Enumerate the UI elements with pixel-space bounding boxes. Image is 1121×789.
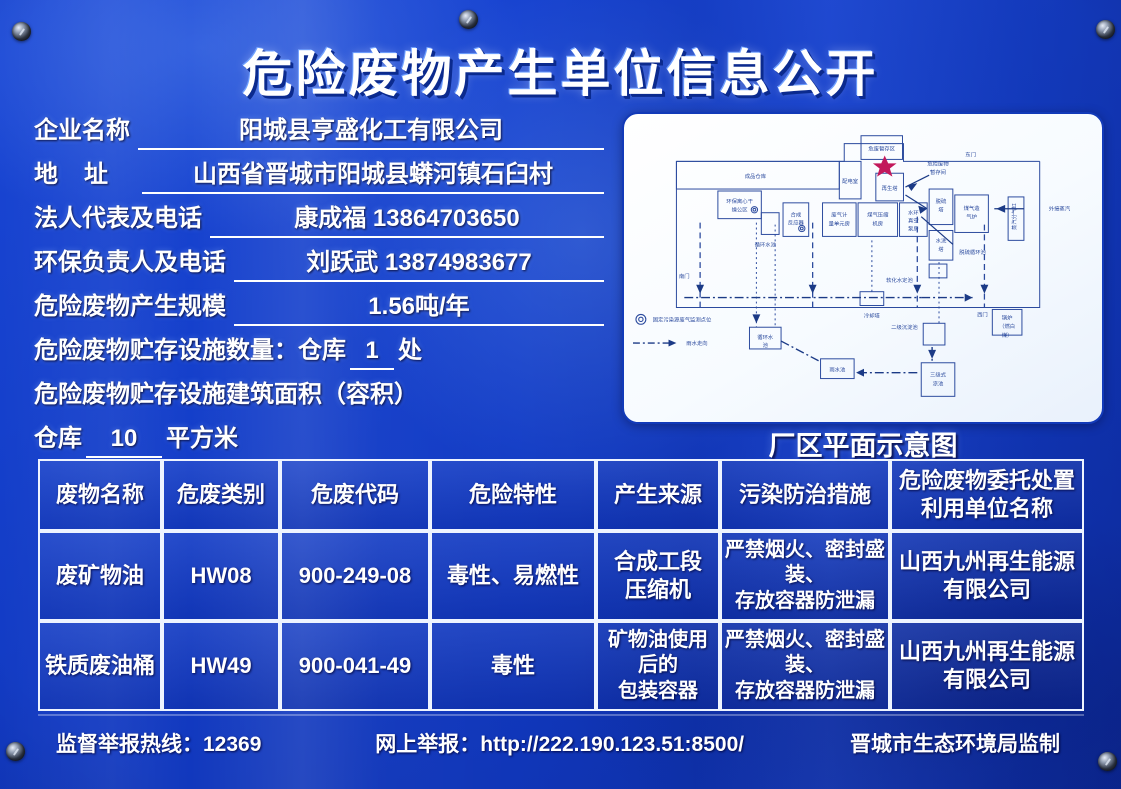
svg-text:固定污染源废气监测点位: 固定污染源废气监测点位 bbox=[653, 315, 712, 323]
table-header-control: 污染防治措施 bbox=[720, 459, 890, 531]
info-value-address: 山西省晋城市阳城县蟒河镇石臼村 bbox=[142, 154, 604, 194]
svg-text:煤气压缩: 煤气压缩 bbox=[867, 211, 889, 219]
svg-text:三级式: 三级式 bbox=[930, 371, 947, 379]
svg-text:真空: 真空 bbox=[908, 217, 919, 225]
info-row-env-officer: 环保负责人及电话 刘跃武 13874983677 bbox=[34, 242, 604, 286]
cell-hazard: 毒性 bbox=[430, 621, 596, 711]
legend-monitor-point-icon bbox=[636, 314, 646, 324]
mounting-screw-icon bbox=[6, 742, 25, 761]
cell-control-line1: 严禁烟火、密封盛装、 bbox=[725, 628, 885, 679]
company-info-block: 企业名称 阳城县亨盛化工有限公司 地址 山西省晋城市阳城县蟒河镇石臼村 法人代表… bbox=[34, 110, 604, 462]
site-plan-panel: 成品仓库 配电室 危废暂存区 再生塔 环保离心干 燥公区 合成 反应器 废气计 … bbox=[622, 112, 1104, 424]
svg-text:脱硫循环池: 脱硫循环池 bbox=[959, 248, 986, 256]
storage-area-value: 10 bbox=[86, 425, 162, 458]
svg-text:南门: 南门 bbox=[679, 272, 690, 280]
svg-text:凉池: 凉池 bbox=[933, 379, 944, 387]
info-value-company-name: 阳城县亨盛化工有限公司 bbox=[138, 110, 604, 150]
cell-entrust-line2: 有限公司 bbox=[895, 666, 1079, 694]
cell-waste-name: 废矿物油 bbox=[38, 531, 162, 621]
svg-text:再生塔: 再生塔 bbox=[882, 184, 899, 192]
footer-divider bbox=[38, 714, 1084, 716]
table-header-entrust-line1: 危险废物委托处置 bbox=[895, 467, 1079, 495]
cell-code: 900-041-49 bbox=[280, 621, 430, 711]
svg-text:量单元房: 量单元房 bbox=[829, 220, 850, 228]
cell-entrust-line1: 山西九州再生能源 bbox=[895, 548, 1079, 576]
svg-text:雨水走向: 雨水走向 bbox=[686, 339, 707, 347]
cell-control-line1: 严禁烟火、密封盛装、 bbox=[725, 538, 885, 589]
site-plan-svg: 成品仓库 配电室 危废暂存区 再生塔 环保离心干 燥公区 合成 反应器 废气计 … bbox=[624, 114, 1102, 422]
table-header-category: 危废类别 bbox=[162, 459, 280, 531]
table-header-hazard: 危险特性 bbox=[430, 459, 596, 531]
hazardous-waste-table: 废物名称 危废类别 危废代码 危险特性 产生来源 污染防治措施 危险废物委托处置… bbox=[38, 459, 1084, 711]
cell-category: HW08 bbox=[162, 531, 280, 621]
svg-text:循环水池: 循环水池 bbox=[755, 240, 777, 248]
svg-text:东门: 东门 bbox=[965, 150, 976, 158]
site-plan-caption: 厂区平面示意图 bbox=[622, 424, 1104, 463]
info-row-storage-area-value: 仓库 10 平方米 bbox=[34, 418, 604, 462]
cell-entrust: 山西九州再生能源 有限公司 bbox=[890, 531, 1084, 621]
svg-text:水洗: 水洗 bbox=[936, 236, 947, 244]
svg-text:暂存间: 暂存间 bbox=[930, 168, 946, 176]
cell-control: 严禁烟火、密封盛装、 存放容器防泄漏 bbox=[720, 531, 890, 621]
table-header-entrust: 危险废物委托处置 利用单位名称 bbox=[890, 459, 1084, 531]
info-row-storage-count: 危险废物贮存设施数量：仓库 1 处 bbox=[34, 330, 604, 374]
table-header-source: 产生来源 bbox=[596, 459, 720, 531]
svg-text:循环水: 循环水 bbox=[757, 333, 774, 341]
info-label-legal-rep: 法人代表及电话 bbox=[34, 198, 202, 233]
footer-hotline: 监督举报热线：12369 bbox=[56, 728, 261, 758]
table-header-code: 危废代码 bbox=[280, 459, 430, 531]
svg-text:塔: 塔 bbox=[938, 245, 944, 253]
svg-text:外接蒸汽: 外接蒸汽 bbox=[1049, 205, 1071, 213]
cell-source-line2: 包装容器 bbox=[601, 679, 715, 705]
info-label-address: 地址 bbox=[34, 154, 134, 189]
site-plan-drawing: 成品仓库 配电室 危废暂存区 再生塔 环保离心干 燥公区 合成 反应器 废气计 … bbox=[622, 112, 1104, 424]
svg-text:泵房: 泵房 bbox=[908, 224, 919, 232]
cell-entrust: 山西九州再生能源 有限公司 bbox=[890, 621, 1084, 711]
cell-code: 900-249-08 bbox=[280, 531, 430, 621]
svg-text:机房: 机房 bbox=[872, 220, 883, 228]
svg-text:水环: 水环 bbox=[908, 209, 919, 217]
cell-entrust-line1: 山西九州再生能源 bbox=[895, 638, 1079, 666]
footer-bar: 监督举报热线：12369 网上举报：http://222.190.123.51:… bbox=[38, 728, 1084, 758]
svg-text:成品仓库: 成品仓库 bbox=[745, 172, 767, 180]
cell-control: 严禁烟火、密封盛装、 存放容器防泄漏 bbox=[720, 621, 890, 711]
svg-text:环保离心干: 环保离心干 bbox=[726, 197, 753, 205]
svg-text:锅炉: 锅炉 bbox=[1002, 313, 1013, 321]
storage-count-unit: 处 bbox=[398, 330, 422, 365]
table-row: 废矿物油 HW08 900-249-08 毒性、易燃性 合成工段 压缩机 严禁烟… bbox=[38, 531, 1084, 621]
svg-text:煤气造: 煤气造 bbox=[964, 204, 981, 212]
footer-organization: 晋城市生态环境局监制 bbox=[850, 728, 1060, 758]
footer-web-report[interactable]: 网上举报：http://222.190.123.51:8500/ bbox=[375, 728, 744, 758]
cell-source: 合成工段 压缩机 bbox=[596, 531, 720, 621]
svg-text:塔: 塔 bbox=[938, 206, 944, 214]
info-row-storage-area-label: 危险废物贮存设施建筑面积（容积） bbox=[34, 374, 604, 418]
cell-source-line1: 矿物油使用后的 bbox=[601, 628, 715, 679]
cell-source: 矿物油使用后的 包装容器 bbox=[596, 621, 720, 711]
svg-text:气炉: 气炉 bbox=[966, 213, 977, 221]
info-label-env-officer: 环保负责人及电话 bbox=[34, 242, 226, 277]
svg-text:西门: 西门 bbox=[977, 310, 988, 318]
svg-text:软化水定池: 软化水定池 bbox=[886, 276, 913, 284]
info-label-waste-scale: 危险废物产生规模 bbox=[34, 286, 226, 321]
svg-text:危险废物: 危险废物 bbox=[927, 159, 949, 167]
info-value-legal-rep: 康成福 13864703650 bbox=[210, 198, 604, 238]
svg-text:蒸汽分气缸: 蒸汽分气缸 bbox=[1010, 203, 1018, 230]
storage-area-unit: 平方米 bbox=[166, 418, 238, 453]
cell-hazard: 毒性、易燃性 bbox=[430, 531, 596, 621]
page-title: 危险废物产生单位信息公开 bbox=[0, 34, 1121, 106]
storage-area-label: 危险废物贮存设施建筑面积（容积） bbox=[34, 374, 418, 409]
svg-text:废气计: 废气计 bbox=[831, 211, 848, 219]
storage-count-value: 1 bbox=[350, 337, 394, 370]
svg-text:（燃白: （燃白 bbox=[999, 322, 1015, 330]
mounting-screw-icon bbox=[1098, 752, 1117, 771]
svg-text:二级沉淀池: 二级沉淀池 bbox=[891, 323, 918, 331]
svg-text:冷却塔: 冷却塔 bbox=[864, 311, 881, 319]
svg-text:煤）: 煤） bbox=[1002, 331, 1013, 339]
storage-count-label: 危险废物贮存设施数量：仓库 bbox=[34, 330, 346, 365]
svg-text:配电室: 配电室 bbox=[842, 177, 859, 185]
cell-waste-name: 铁质废油桶 bbox=[38, 621, 162, 711]
info-value-env-officer: 刘跃武 13874983677 bbox=[234, 242, 604, 282]
table-header-entrust-line2: 利用单位名称 bbox=[895, 495, 1079, 523]
info-row-legal-rep: 法人代表及电话 康成福 13864703650 bbox=[34, 198, 604, 242]
svg-text:雨水池: 雨水池 bbox=[829, 366, 846, 374]
svg-text:燥公区: 燥公区 bbox=[732, 206, 749, 214]
table-row: 铁质废油桶 HW49 900-041-49 毒性 矿物油使用后的 包装容器 严禁… bbox=[38, 621, 1084, 711]
cell-source-line1: 合成工段 bbox=[601, 548, 715, 576]
info-row-company-name: 企业名称 阳城县亨盛化工有限公司 bbox=[34, 110, 604, 154]
cell-source-line2: 压缩机 bbox=[601, 576, 715, 604]
svg-text:合成: 合成 bbox=[791, 211, 802, 219]
svg-text:反应器: 反应器 bbox=[788, 219, 805, 227]
svg-text:池: 池 bbox=[763, 341, 769, 349]
info-label-company-name: 企业名称 bbox=[34, 110, 130, 145]
table-header-row: 废物名称 危废类别 危废代码 危险特性 产生来源 污染防治措施 危险废物委托处置… bbox=[38, 459, 1084, 531]
cell-control-line2: 存放容器防泄漏 bbox=[725, 589, 885, 615]
mounting-screw-icon bbox=[459, 10, 478, 29]
svg-text:危废暂存区: 危废暂存区 bbox=[868, 145, 895, 153]
storage-area-prefix: 仓库 bbox=[34, 418, 82, 453]
info-row-waste-scale: 危险废物产生规模 1.56吨/年 bbox=[34, 286, 604, 330]
table-header-waste-name: 废物名称 bbox=[38, 459, 162, 531]
svg-text:脱硫: 脱硫 bbox=[936, 197, 947, 205]
info-value-waste-scale: 1.56吨/年 bbox=[234, 286, 604, 326]
cell-entrust-line2: 有限公司 bbox=[895, 576, 1079, 604]
cell-control-line2: 存放容器防泄漏 bbox=[725, 679, 885, 705]
info-row-address: 地址 山西省晋城市阳城县蟒河镇石臼村 bbox=[34, 154, 604, 198]
cell-category: HW49 bbox=[162, 621, 280, 711]
